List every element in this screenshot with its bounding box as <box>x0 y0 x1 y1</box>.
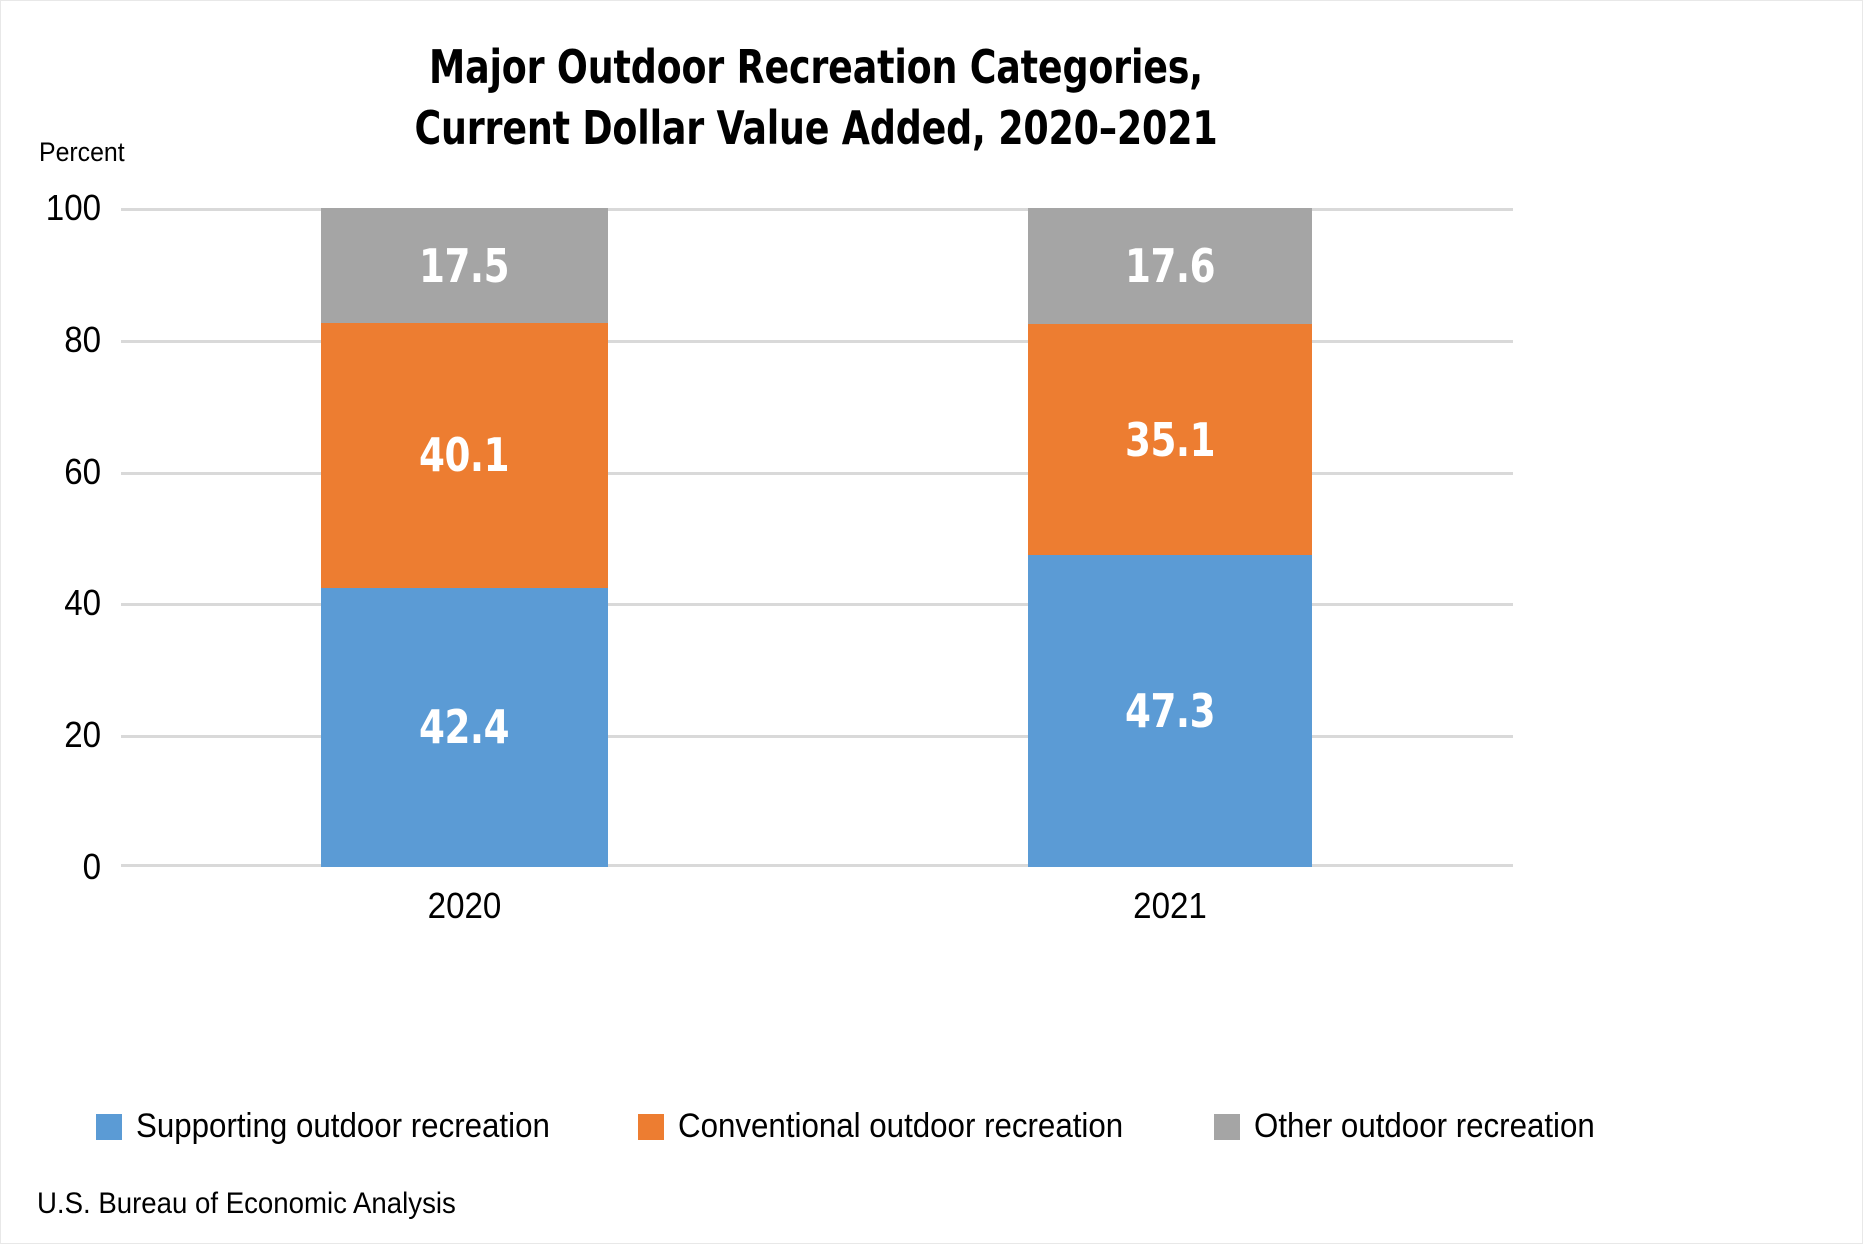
bar-2021-label-supporting: 47.3 <box>1125 684 1215 738</box>
y-tick-0: 0 <box>83 846 101 888</box>
chart-legend: Supporting outdoor recreation Convention… <box>96 1107 1796 1146</box>
legend-label-conventional: Conventional outdoor recreation <box>678 1107 1123 1146</box>
bar-2020-label-other: 17.5 <box>419 239 509 293</box>
legend-swatch-icon-supporting <box>96 1114 122 1140</box>
y-tick-100: 100 <box>46 187 101 229</box>
bar-2021[interactable]: 47.3 35.1 17.6 <box>1028 208 1312 867</box>
x-category-label-2021: 2021 <box>1039 885 1300 927</box>
bar-2021-label-conventional: 35.1 <box>1125 413 1215 467</box>
bar-2020-label-supporting: 42.4 <box>419 700 509 754</box>
bar-2021-label-other: 17.6 <box>1125 239 1215 293</box>
y-tick-20: 20 <box>64 714 101 756</box>
bar-2020-segment-supporting[interactable]: 42.4 <box>321 588 608 867</box>
bar-2021-segment-other[interactable]: 17.6 <box>1028 208 1312 324</box>
legend-item-supporting[interactable]: Supporting outdoor recreation <box>96 1107 586 1146</box>
chart-title: Major Outdoor Recreation Categories, Cur… <box>204 37 1427 159</box>
bar-2021-segment-supporting[interactable]: 47.3 <box>1028 555 1312 867</box>
bar-2021-segment-conventional[interactable]: 35.1 <box>1028 324 1312 555</box>
legend-swatch-icon-other <box>1214 1114 1240 1140</box>
bar-2020[interactable]: 42.4 40.1 17.5 <box>321 208 608 867</box>
source-note: U.S. Bureau of Economic Analysis <box>37 1187 456 1221</box>
plot-area: 42.4 40.1 17.5 47.3 35.1 17.6 <box>121 208 1513 867</box>
chart-figure: Major Outdoor Recreation Categories, Cur… <box>0 0 1863 1244</box>
y-axis-tick-labels: 100 80 60 40 20 0 <box>1 208 101 867</box>
y-axis-unit-label: Percent <box>39 137 125 168</box>
legend-item-other[interactable]: Other outdoor recreation <box>1214 1107 1624 1146</box>
y-tick-60: 60 <box>64 451 101 493</box>
bar-2020-label-conventional: 40.1 <box>419 428 509 482</box>
legend-label-supporting: Supporting outdoor recreation <box>136 1107 550 1146</box>
bar-2020-segment-conventional[interactable]: 40.1 <box>321 323 608 587</box>
y-tick-40: 40 <box>64 582 101 624</box>
x-category-label-2020: 2020 <box>332 885 596 927</box>
legend-label-other: Other outdoor recreation <box>1254 1107 1595 1146</box>
bar-2020-segment-other[interactable]: 17.5 <box>321 208 608 323</box>
legend-swatch-icon-conventional <box>638 1114 664 1140</box>
legend-item-conventional[interactable]: Conventional outdoor recreation <box>638 1107 1162 1146</box>
y-tick-80: 80 <box>64 319 101 361</box>
